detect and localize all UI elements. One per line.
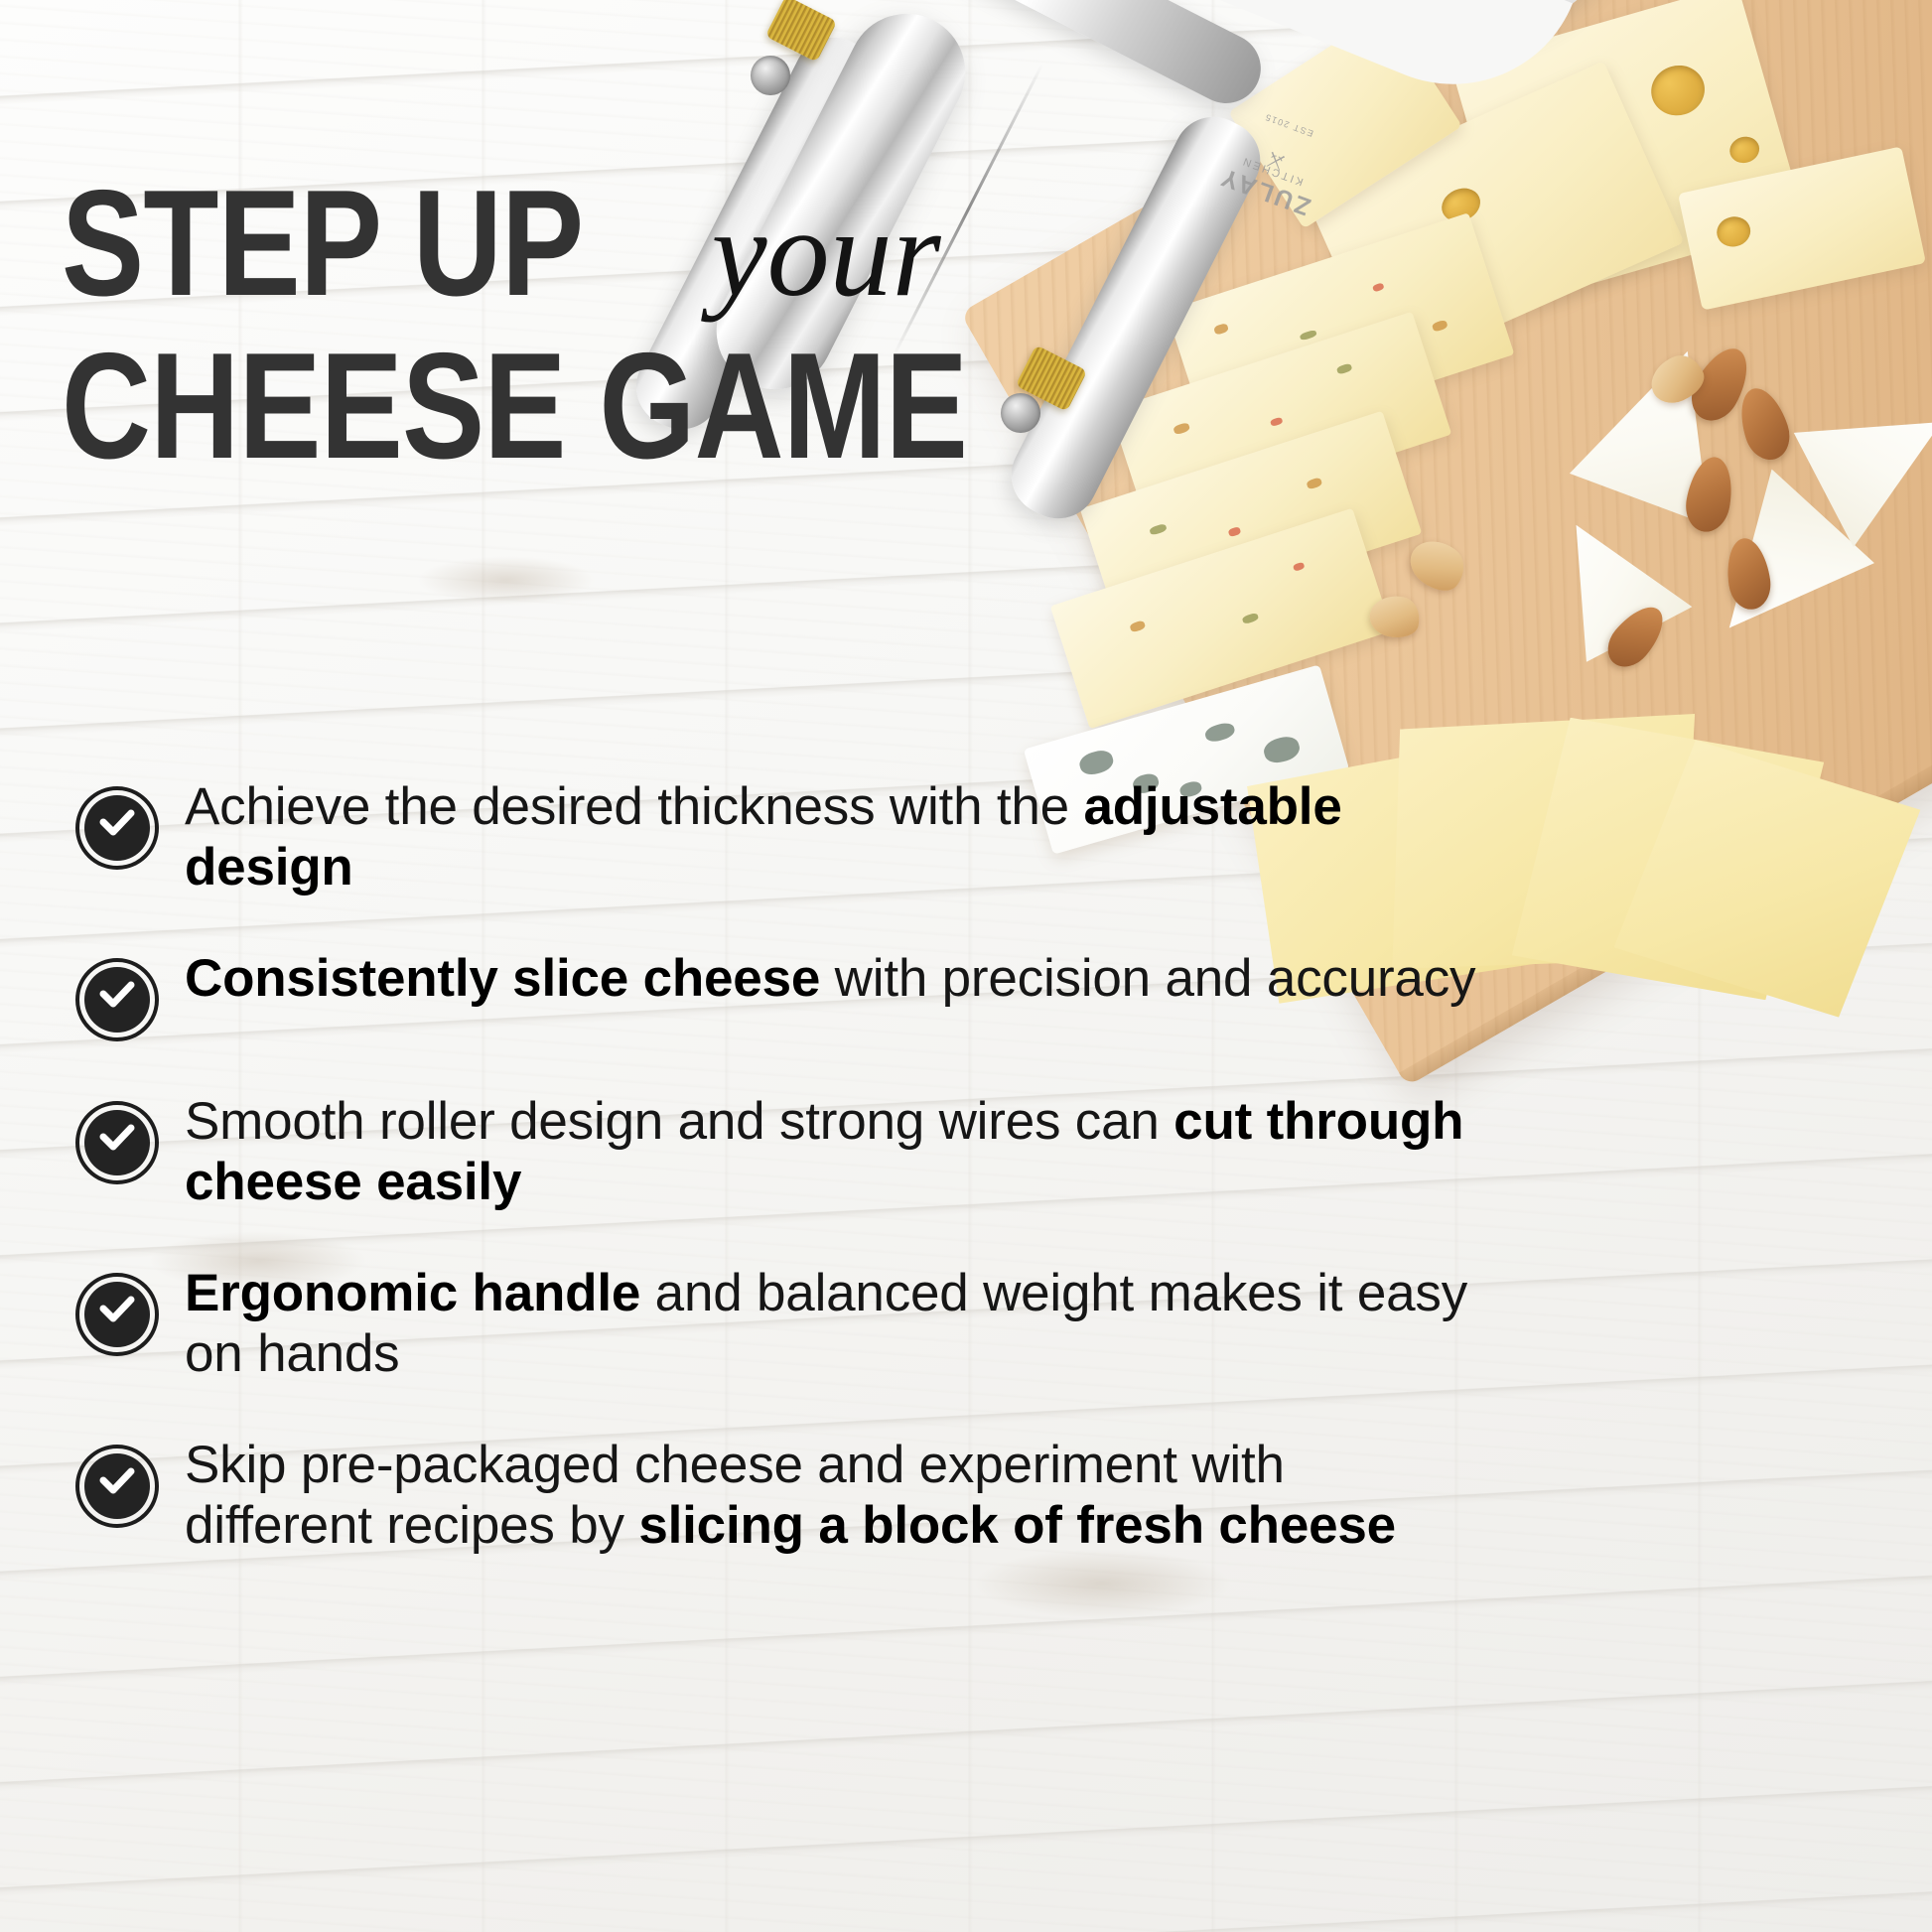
check-mark-icon xyxy=(97,1461,137,1501)
check-circle-icon xyxy=(75,958,159,1041)
wood-knot xyxy=(973,1549,1231,1618)
wood-knot xyxy=(417,556,596,604)
headline: STEP UPyour CHEESE GAME xyxy=(62,175,955,477)
headline-line-2: CHEESE GAME xyxy=(62,338,955,477)
headline-step-up: STEP UP xyxy=(62,175,583,314)
check-circle-icon xyxy=(75,1101,159,1184)
check-mark-icon xyxy=(97,975,137,1015)
bullet-plain: Smooth roller design and strong wires ca… xyxy=(185,1092,1173,1151)
bullet-emphasis: slicing a block of fresh cheese xyxy=(638,1496,1396,1555)
bullet-emphasis: Consistently slice cheese xyxy=(185,949,820,1008)
infographic-canvas: ZULAY KITCHEN ⚔ EST 2015 STEP UPyour CHE… xyxy=(0,0,1932,1932)
bullet-plain: Achieve the desired thickness with the xyxy=(185,777,1083,836)
check-mark-icon xyxy=(97,1118,137,1158)
bullet-emphasis: Ergonomic handle xyxy=(185,1264,640,1322)
feature-bullet-text: Achieve the desired thickness with the a… xyxy=(185,776,1485,898)
feature-bullet-text: Ergonomic handle and balanced weight mak… xyxy=(185,1263,1485,1385)
check-circle-icon xyxy=(75,1445,159,1528)
feature-bullet-text: Smooth roller design and strong wires ca… xyxy=(185,1091,1485,1213)
headline-cheese-game: CHEESE GAME xyxy=(62,338,967,477)
check-mark-icon xyxy=(97,803,137,843)
feature-bullet: Smooth roller design and strong wires ca… xyxy=(75,1091,1485,1213)
feature-bullet: Skip pre-packaged cheese and experiment … xyxy=(75,1435,1485,1557)
feature-bullet: Achieve the desired thickness with the a… xyxy=(75,776,1485,898)
headline-your: your xyxy=(712,197,941,312)
check-mark-icon xyxy=(97,1290,137,1329)
feature-bullet-text: Skip pre-packaged cheese and experiment … xyxy=(185,1435,1485,1557)
feature-bullet: Ergonomic handle and balanced weight mak… xyxy=(75,1263,1485,1385)
feature-bullet-list: Achieve the desired thickness with the a… xyxy=(75,776,1485,1557)
check-circle-icon xyxy=(75,786,159,870)
feature-bullet: Consistently slice cheese with precision… xyxy=(75,948,1485,1041)
check-circle-icon xyxy=(75,1273,159,1356)
headline-line-1: STEP UPyour xyxy=(62,175,955,314)
bullet-plain: with precision and accuracy xyxy=(820,949,1475,1008)
feature-bullet-text: Consistently slice cheese with precision… xyxy=(185,948,1475,1009)
